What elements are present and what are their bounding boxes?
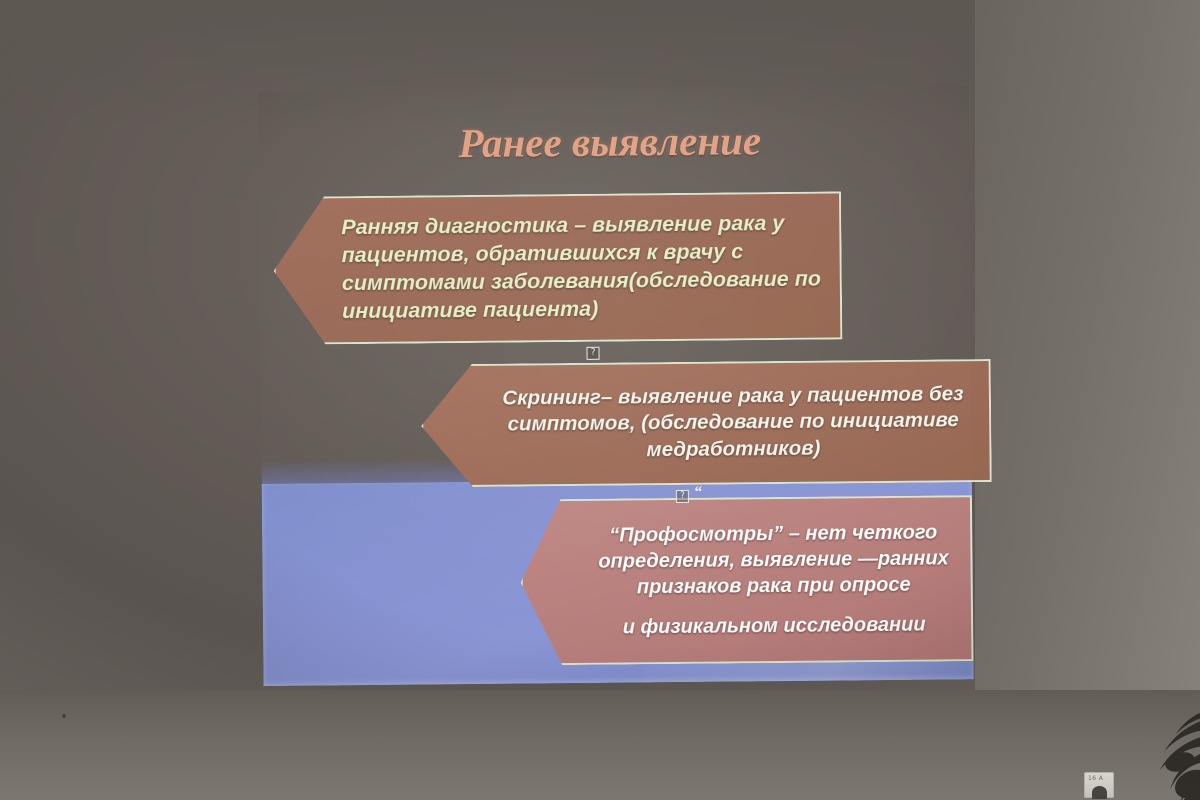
arrow-block-screening-text: Скрининг– выявление рака у пациентов без…: [495, 381, 972, 465]
arrow-block-prophylactic-exams-main: “Профосмотры” – нет четкого определения,…: [598, 522, 949, 599]
missing-glyph-icon-1: ?: [586, 347, 599, 360]
stray-quote-mark: “: [694, 484, 702, 502]
arrow-block-prophylactic-exams: “Профосмотры” – нет четкого определения,…: [520, 495, 974, 665]
wall-lower: [0, 690, 1200, 800]
wall-speck: [62, 714, 66, 718]
wall-right: [975, 0, 1200, 800]
missing-glyph-icon-2: ?: [676, 490, 689, 503]
arrow-block-prophylactic-exams-last-line: и физикальном исследовании: [585, 611, 963, 641]
room-photo: Ранее выявление Ранняя диагностика – выя…: [0, 0, 1200, 800]
plant-silhouette: [1076, 690, 1200, 800]
slide-title: Ранее выявление: [458, 118, 878, 165]
arrow-block-prophylactic-exams-text: “Профосмотры” – нет четкого определения,…: [584, 519, 963, 641]
arrow-block-early-diagnosis: Ранняя диагностика – выявление рака у па…: [273, 191, 842, 344]
projected-slide: Ранее выявление Ранняя диагностика – выя…: [258, 85, 974, 686]
arrow-block-early-diagnosis-text: Ранняя диагностика – выявление рака у па…: [341, 210, 826, 326]
arrow-block-screening: Скрининг– выявление рака у пациентов без…: [421, 359, 992, 487]
